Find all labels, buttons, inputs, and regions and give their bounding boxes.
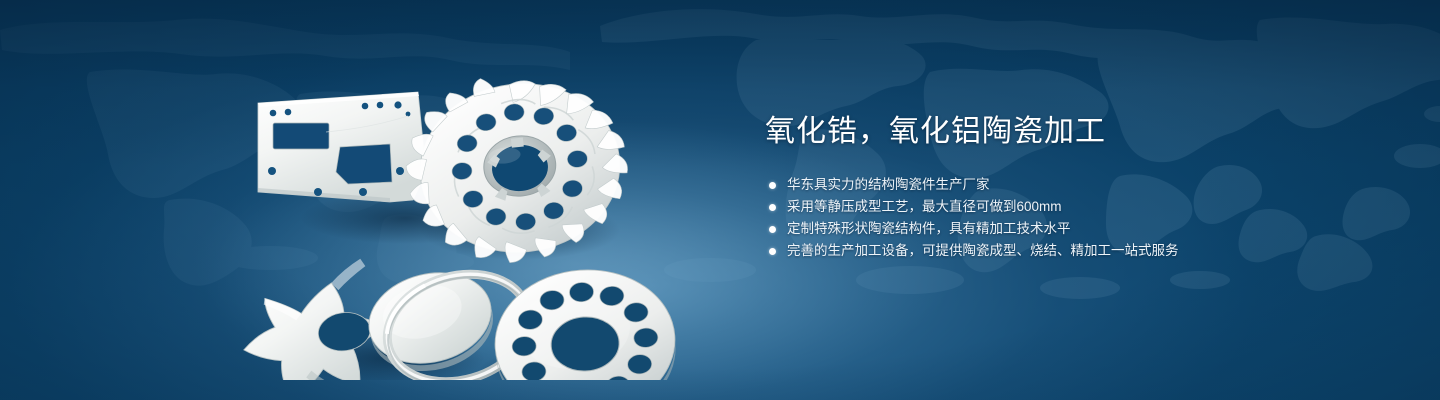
ceramic-perforated-disc-part xyxy=(490,264,680,380)
bullet-dot-icon xyxy=(769,248,776,255)
feature-list: 华东具实力的结构陶瓷件生产厂家 采用等静压成型工艺，最大直径可做到600mm 定… xyxy=(765,174,1365,262)
product-photo-group xyxy=(230,40,730,380)
feature-text: 采用等静压成型工艺，最大直径可做到600mm xyxy=(787,196,1062,218)
list-item: 采用等静压成型工艺，最大直径可做到600mm xyxy=(765,196,1365,218)
feature-text: 定制特殊形状陶瓷结构件，具有精加工技术水平 xyxy=(787,218,1071,240)
ceramic-plate-part xyxy=(258,92,426,202)
list-item: 华东具实力的结构陶瓷件生产厂家 xyxy=(765,174,1365,196)
bullet-dot-icon xyxy=(769,182,776,189)
hero-banner: 氧化锆，氧化铝陶瓷加工 华东具实力的结构陶瓷件生产厂家 采用等静压成型工艺，最大… xyxy=(0,0,1440,400)
list-item: 定制特殊形状陶瓷结构件，具有精加工技术水平 xyxy=(765,218,1365,240)
feature-text: 华东具实力的结构陶瓷件生产厂家 xyxy=(787,174,990,196)
bullet-dot-icon xyxy=(769,226,776,233)
list-item: 完善的生产加工设备，可提供陶瓷成型、烧结、精加工一站式服务 xyxy=(765,240,1365,262)
banner-copy: 氧化锆，氧化铝陶瓷加工 华东具实力的结构陶瓷件生产厂家 采用等静压成型工艺，最大… xyxy=(765,112,1365,262)
page-title: 氧化锆，氧化铝陶瓷加工 xyxy=(765,112,1365,152)
feature-text: 完善的生产加工设备，可提供陶瓷成型、烧结、精加工一站式服务 xyxy=(787,240,1179,262)
bullet-dot-icon xyxy=(769,204,776,211)
